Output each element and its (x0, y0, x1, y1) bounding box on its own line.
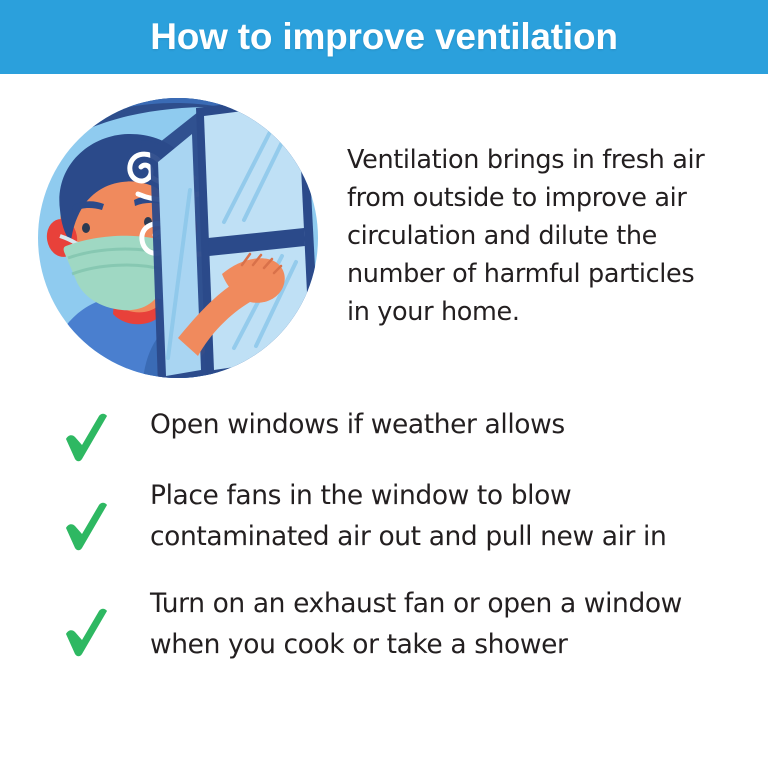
page-title: How to improve ventilation (150, 16, 618, 58)
header-bar: How to improve ventilation (0, 0, 768, 74)
intro-section: Ventilation brings in fresh air from out… (0, 74, 768, 394)
check-icon (62, 412, 108, 464)
list-item: Place fans in the window to blow contami… (0, 475, 768, 557)
list-item-label: Place fans in the window to blow contami… (150, 475, 750, 557)
intro-paragraph: Ventilation brings in fresh air from out… (347, 141, 719, 331)
list-item-label: Turn on an exhaust fan or open a window … (150, 583, 750, 665)
check-icon (62, 501, 108, 553)
list-item-label: Open windows if weather allows (150, 404, 565, 445)
tips-checklist: Open windows if weather allows Place fan… (0, 404, 768, 687)
list-item: Turn on an exhaust fan or open a window … (0, 583, 768, 665)
check-icon (62, 607, 108, 659)
list-item: Open windows if weather allows (0, 404, 768, 445)
person-opening-window-illustration (38, 90, 348, 390)
